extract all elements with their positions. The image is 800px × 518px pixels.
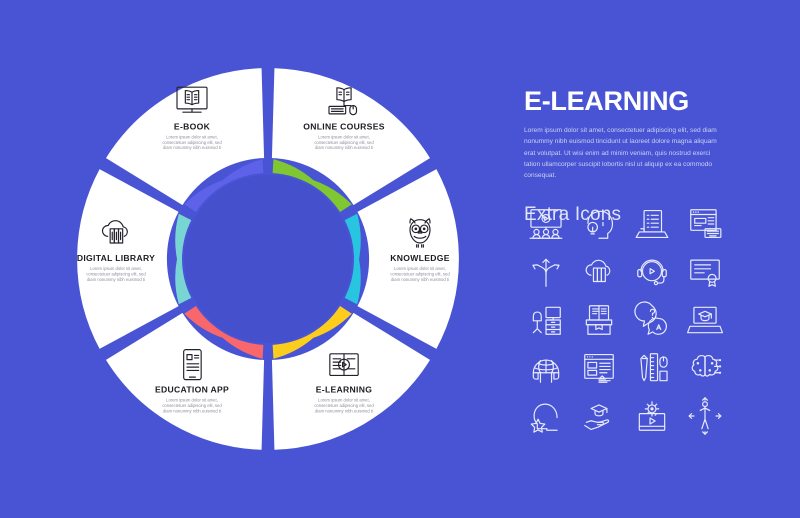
wheel-segment-label-knowledge: KNOWLEDGE [390, 253, 450, 263]
wheel-segment-desc-digital-library: consectetuer adipiscing elit, sed [86, 271, 146, 276]
wheel-segment-desc-e-learning: Lorem ipsum dolor sit amet, [318, 398, 370, 403]
panel-description: Lorem ipsum dolor sit amet, consectetuer… [524, 125, 724, 182]
wheel-segment-desc-education-app: consectetuer adipiscing elit, sed [162, 403, 222, 408]
wheel-segment-desc-e-learning: diam nonummy nibh euismod ti [315, 408, 373, 413]
headset-play-icon[interactable] [632, 253, 672, 291]
brain-circuit-icon[interactable] [685, 349, 725, 387]
qa-chat-bubbles-icon[interactable] [632, 301, 672, 339]
cloud-books-icon[interactable] [579, 253, 619, 291]
hand-graduation-cap-icon[interactable] [579, 397, 619, 435]
wheel-segment-label-e-book: E-BOOK [174, 121, 211, 131]
wheel-segment-desc-online-courses: consectetuer adipiscing elit, sed [314, 140, 374, 145]
open-book-box-icon[interactable] [579, 301, 619, 339]
wheel-segment-desc-e-book: Lorem ipsum dolor sit amet, [166, 134, 218, 139]
pen-ruler-mouse-icon[interactable] [632, 349, 672, 387]
wheel-segment-desc-online-courses: Lorem ipsum dolor sit amet, [318, 134, 370, 139]
globe-grid-icon[interactable] [526, 349, 566, 387]
video-presentation-audience-icon[interactable] [526, 205, 566, 243]
wheel-segment-desc-digital-library: diam nonummy nibh euismod ti [87, 277, 145, 282]
wheel-segment-desc-online-courses: diam nonummy nibh euismod ti [315, 145, 373, 150]
wheel-segment-label-e-learning: E-LEARNING [316, 385, 372, 395]
wheel-segment-desc-e-learning: consectetuer adipiscing elit, sed [314, 403, 374, 408]
certificate-screen-icon[interactable] [685, 253, 725, 291]
head-star-icon[interactable] [526, 397, 566, 435]
person-four-arrows-icon[interactable] [685, 397, 725, 435]
donut-wheel: E-BOOKLorem ipsum dolor sit amet,consect… [58, 44, 478, 474]
wheel-segment-label-online-courses: ONLINE COURSES [303, 121, 385, 131]
wheel-segment-desc-knowledge: diam nonummy nibh euismod ti [391, 277, 449, 282]
wheel-segment-label-digital-library: DIGITAL LIBRARY [77, 253, 155, 263]
wheel-segment-desc-digital-library: Lorem ipsum dolor sit amet, [90, 266, 142, 271]
desk-computer-chair-icon[interactable] [526, 301, 566, 339]
arrows-three-way-icon[interactable] [526, 253, 566, 291]
laptop-graduation-cap-icon[interactable] [685, 301, 725, 339]
wheel-hub [184, 175, 352, 343]
infographic-canvas: E-BOOKLorem ipsum dolor sit amet,consect… [0, 0, 800, 518]
extra-icons-grid [519, 200, 731, 440]
laptop-checklist-icon[interactable] [632, 205, 672, 243]
webpage-layout-icon[interactable] [579, 349, 619, 387]
video-gear-icon[interactable] [632, 397, 672, 435]
wheel-svg: E-BOOKLorem ipsum dolor sit amet,consect… [58, 44, 478, 474]
head-lightbulb-icon[interactable] [579, 205, 619, 243]
wheel-segment-desc-knowledge: consectetuer adipiscing elit, sed [390, 271, 450, 276]
wheel-segment-desc-e-book: diam nonummy nibh euismod ti [163, 145, 221, 150]
page-title: E-LEARNING [524, 88, 764, 115]
wheel-segment-desc-education-app: Lorem ipsum dolor sit amet, [166, 398, 218, 403]
wheel-segment-desc-education-app: diam nonummy nibh euismod ti [163, 408, 221, 413]
wheel-segment-desc-e-book: consectetuer adipiscing elit, sed [162, 140, 222, 145]
edu-browser-keyboard-icon[interactable] [685, 205, 725, 243]
wheel-segment-desc-knowledge: Lorem ipsum dolor sit amet, [394, 266, 446, 271]
wheel-segment-label-education-app: EDUCATION APP [155, 385, 229, 395]
